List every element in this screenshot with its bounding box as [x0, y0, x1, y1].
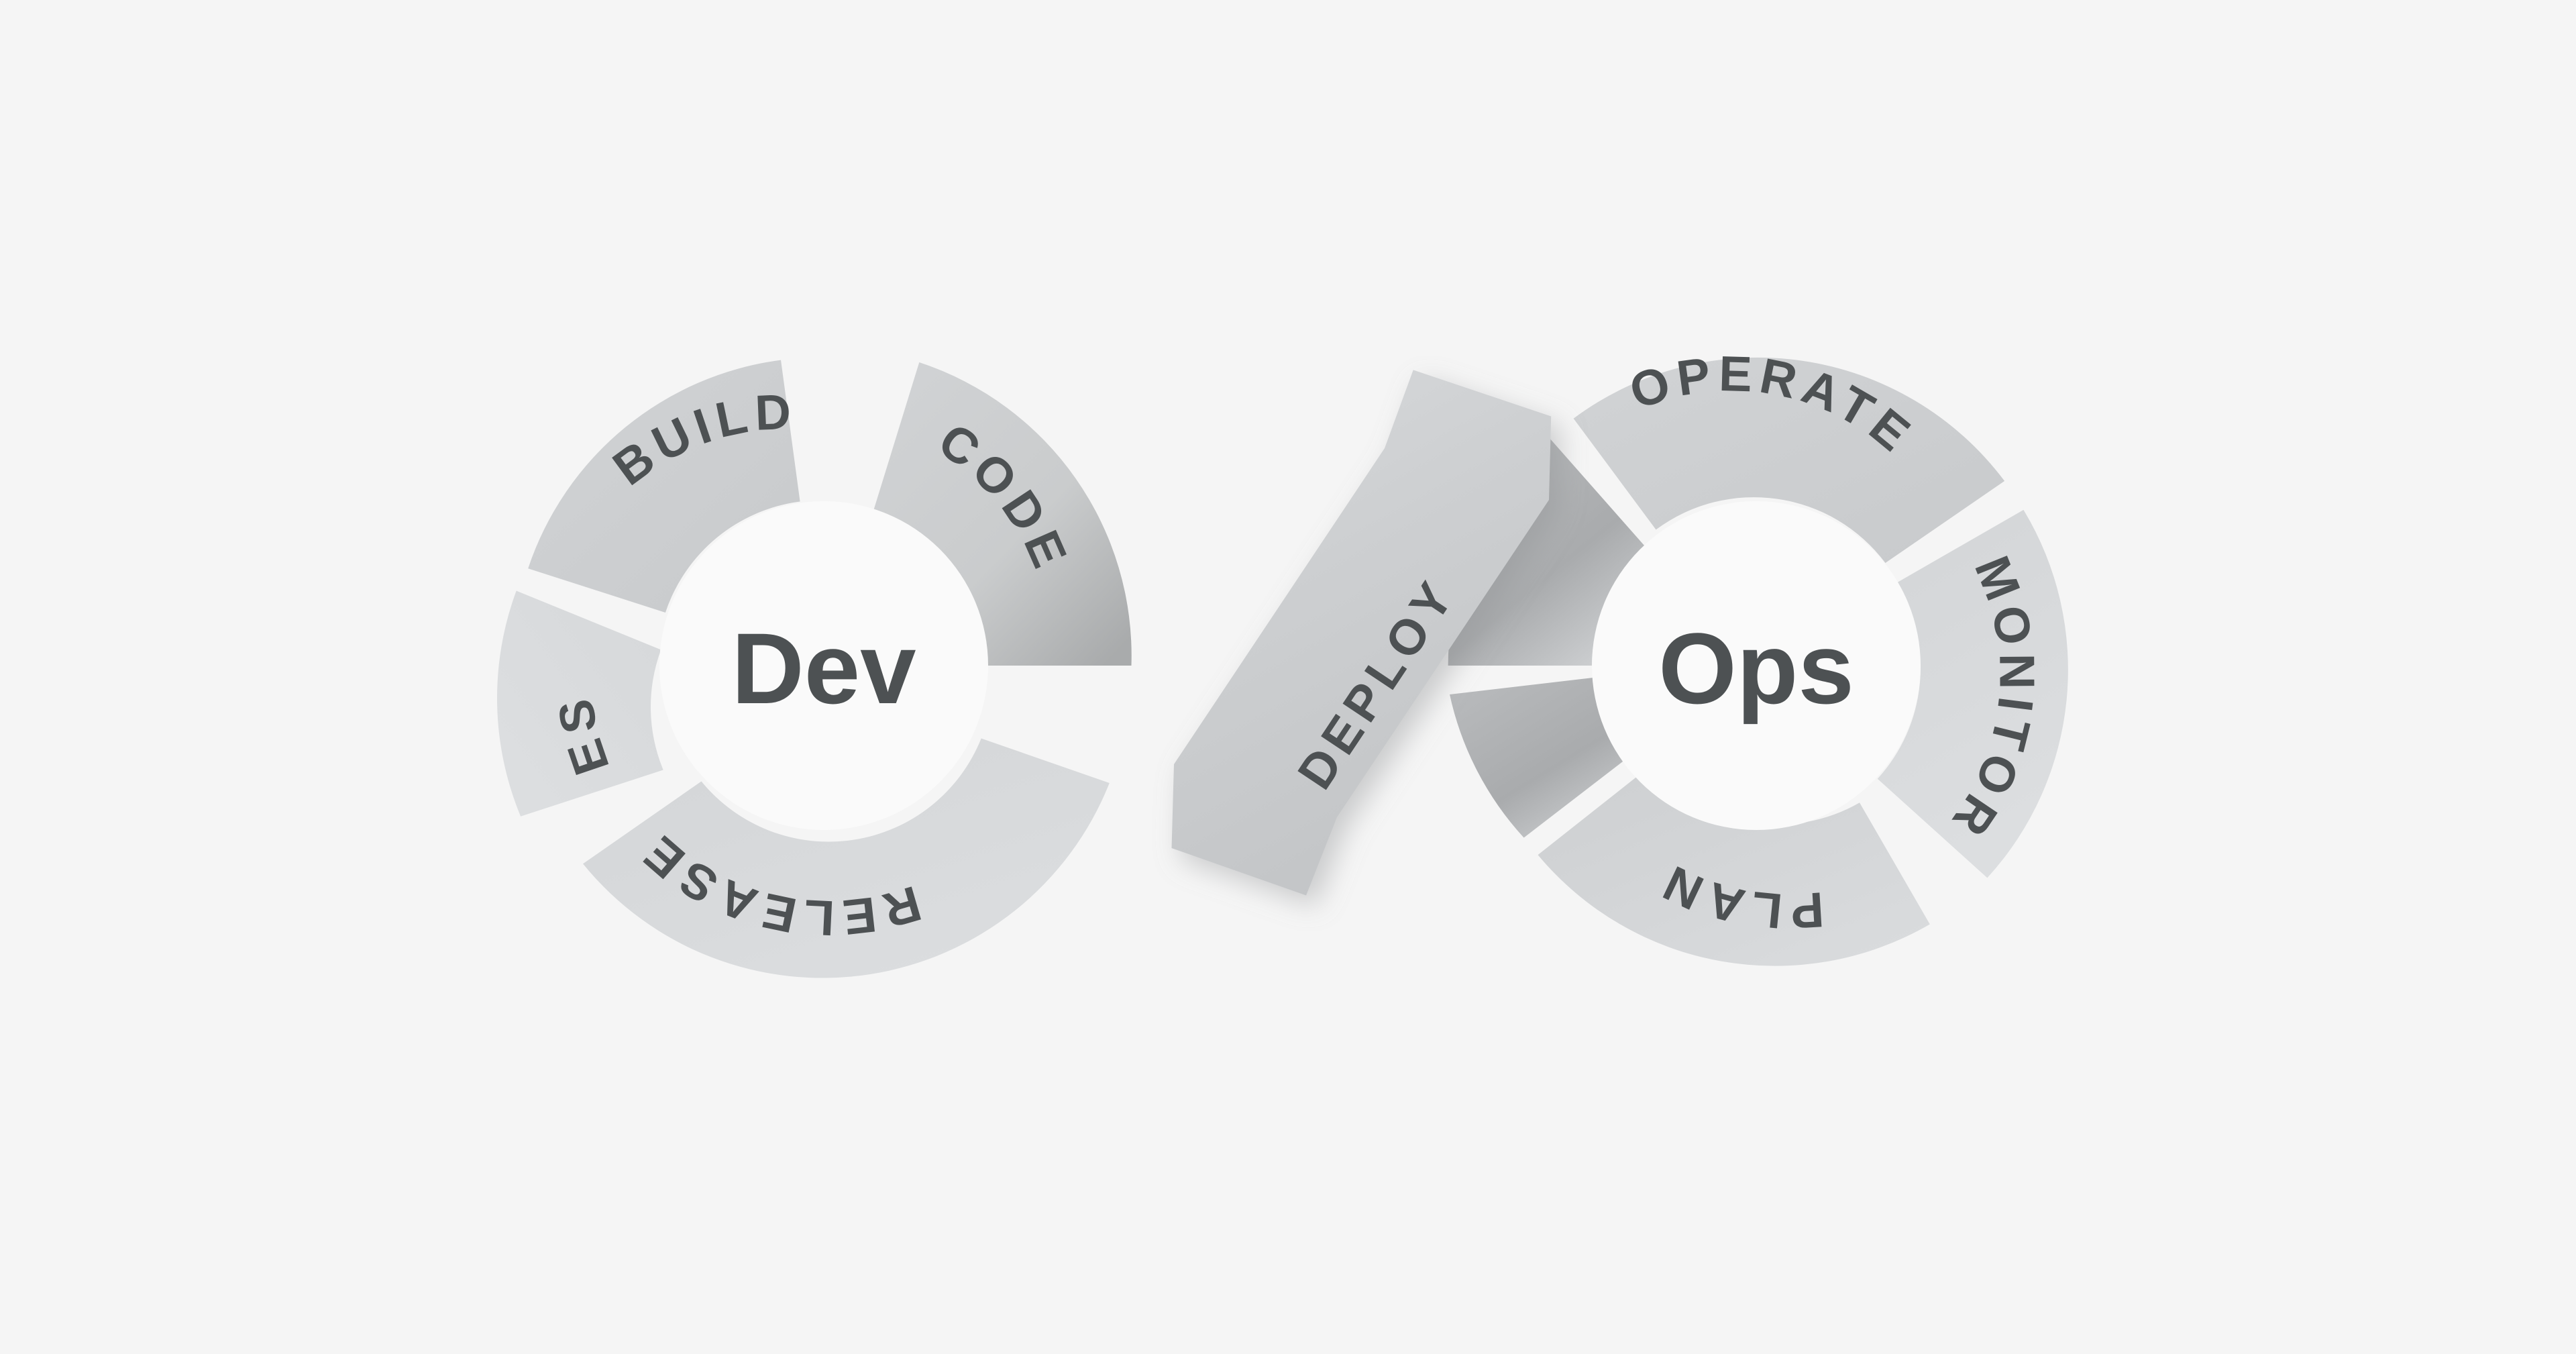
label-dev: Dev [731, 612, 916, 725]
label-ops: Ops [1658, 612, 1854, 725]
devops-infinity-diagram: BUILD CODE TEST RELEASE OPERATE MONITOR … [0, 0, 2576, 1354]
diagram-canvas: BUILD CODE TEST RELEASE OPERATE MONITOR … [0, 0, 2576, 1354]
